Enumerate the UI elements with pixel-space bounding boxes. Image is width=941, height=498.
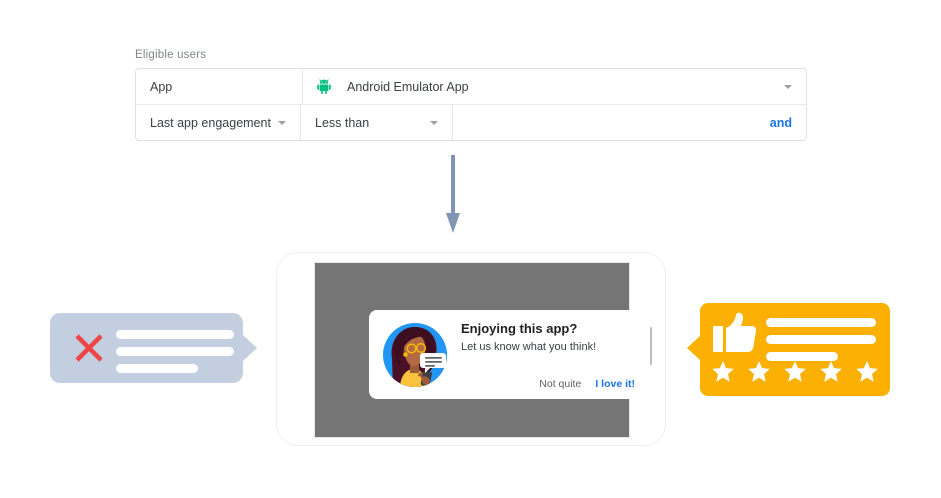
positive-feedback-card bbox=[700, 303, 890, 396]
dialog-subtitle: Let us know what you think! bbox=[461, 340, 635, 354]
dialog-actions: Not quite I love it! bbox=[461, 378, 635, 399]
red-x-icon bbox=[72, 331, 106, 365]
app-value-selector[interactable]: Android Emulator App bbox=[303, 69, 806, 104]
form-section-label: Eligible users bbox=[135, 48, 807, 62]
negative-text-lines bbox=[116, 330, 234, 373]
positive-text-lines bbox=[766, 318, 876, 361]
app-field-selector[interactable]: App bbox=[136, 69, 303, 104]
condition-row-app: App Andr bbox=[136, 69, 806, 105]
thumbs-up-icon bbox=[713, 312, 757, 354]
text-line bbox=[116, 364, 198, 373]
negative-feedback-card bbox=[50, 313, 243, 383]
chevron-down-icon[interactable] bbox=[430, 121, 438, 125]
app-value-label: Android Emulator App bbox=[347, 80, 469, 94]
eligible-users-form: Eligible users App bbox=[135, 48, 807, 141]
text-line bbox=[766, 335, 876, 344]
woman-with-phone-avatar-icon bbox=[369, 310, 461, 399]
down-arrow-icon bbox=[446, 155, 460, 233]
negative-card-tail bbox=[243, 335, 257, 361]
text-line bbox=[766, 318, 876, 327]
android-robot-icon bbox=[317, 79, 331, 94]
conditions-card: App Andr bbox=[135, 68, 807, 141]
star-icon bbox=[748, 361, 770, 382]
phone-screen: Enjoying this app? Let us know what you … bbox=[314, 262, 630, 438]
positive-card-tail bbox=[687, 335, 701, 361]
text-line bbox=[116, 347, 234, 356]
star-icon bbox=[712, 361, 734, 382]
text-line bbox=[766, 352, 838, 361]
phone-mockup: Enjoying this app? Let us know what you … bbox=[276, 252, 666, 446]
in-app-review-dialog: Enjoying this app? Let us know what you … bbox=[369, 310, 649, 399]
dialog-title: Enjoying this app? bbox=[461, 321, 635, 337]
dialog-body: Enjoying this app? Let us know what you … bbox=[461, 310, 649, 399]
text-line bbox=[116, 330, 234, 339]
i-love-it-button[interactable]: I love it! bbox=[595, 378, 635, 390]
power-button[interactable] bbox=[650, 327, 653, 365]
star-rating bbox=[712, 361, 878, 382]
engagement-operator-label: Less than bbox=[315, 116, 369, 130]
chevron-down-icon[interactable] bbox=[278, 121, 286, 125]
engagement-operator-selector[interactable]: Less than bbox=[301, 105, 453, 140]
condition-row-engagement: Last app engagement Less than and bbox=[136, 105, 806, 140]
star-icon bbox=[856, 361, 878, 382]
app-field-label: App bbox=[150, 80, 172, 94]
engagement-value-cell[interactable]: and bbox=[453, 105, 806, 140]
chevron-down-icon[interactable] bbox=[784, 85, 792, 89]
and-link[interactable]: and bbox=[770, 116, 792, 130]
star-icon bbox=[784, 361, 806, 382]
star-icon bbox=[820, 361, 842, 382]
engagement-field-label: Last app engagement bbox=[150, 116, 271, 130]
not-quite-button[interactable]: Not quite bbox=[539, 378, 581, 390]
engagement-field-selector[interactable]: Last app engagement bbox=[136, 105, 301, 140]
